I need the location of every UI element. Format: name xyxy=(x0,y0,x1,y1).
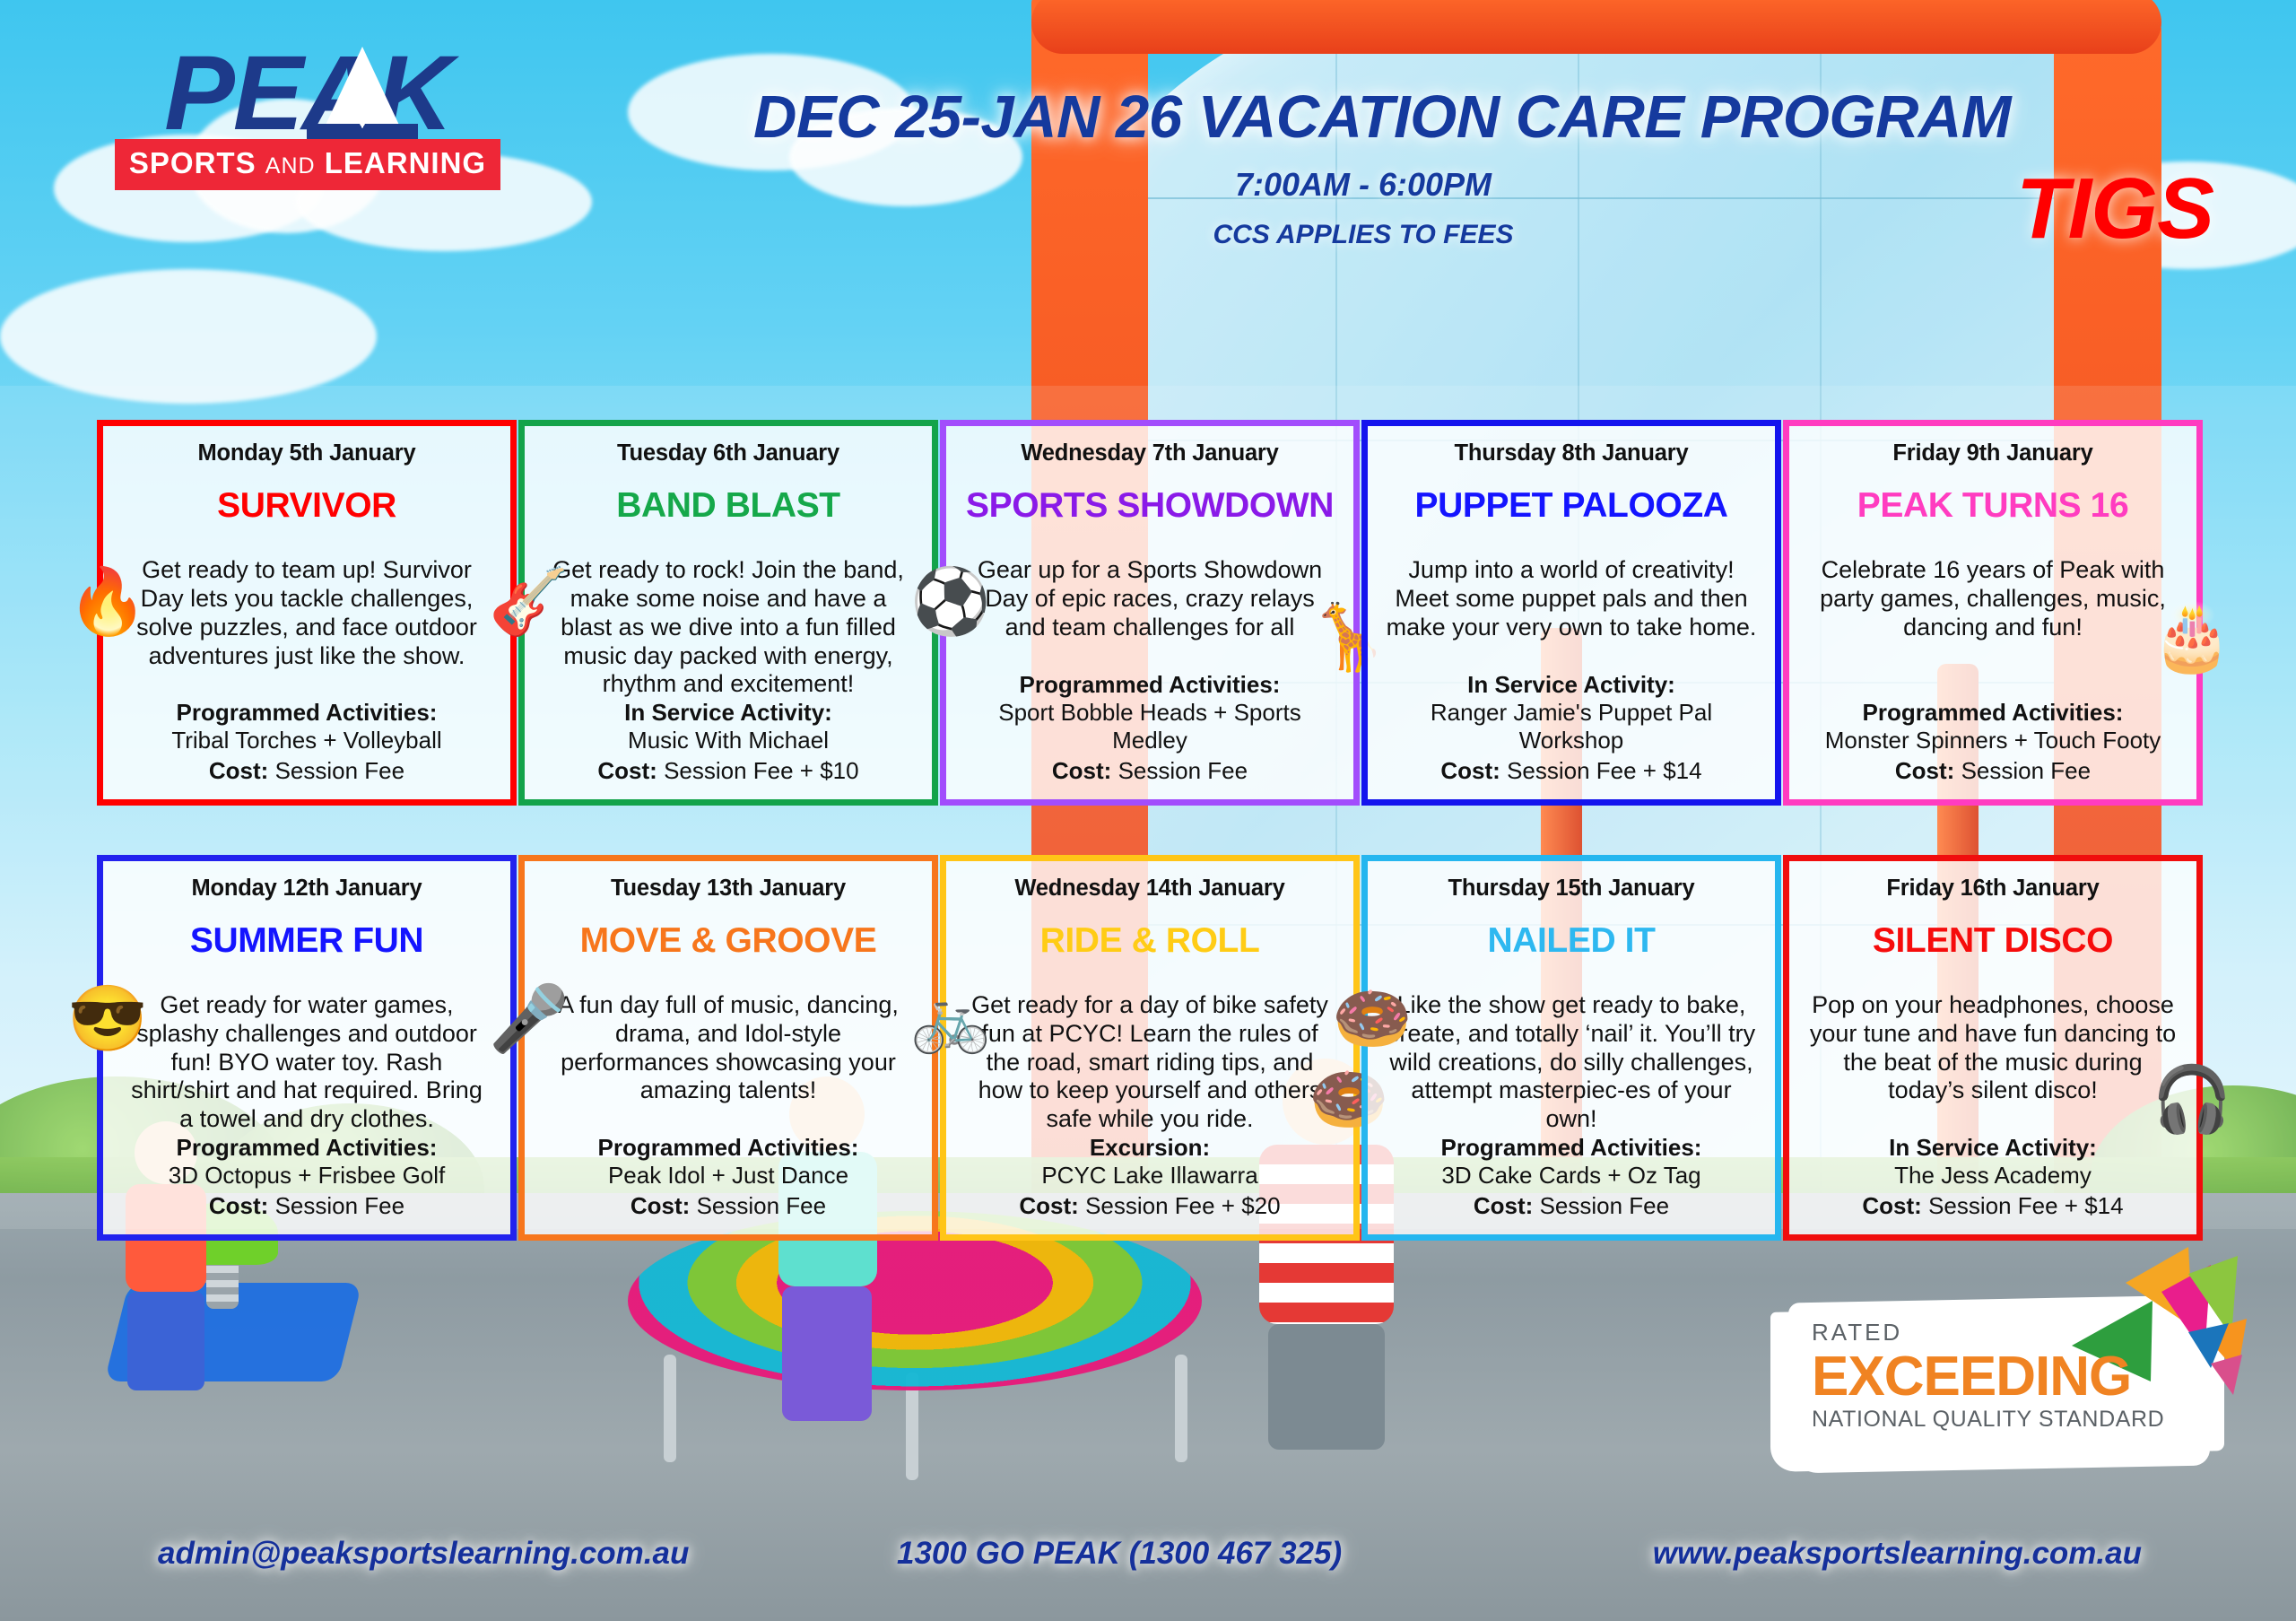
card-date: Wednesday 14th January xyxy=(959,876,1341,902)
card-cost-label: Cost: xyxy=(631,1192,690,1219)
card-cost: Cost: Session Fee xyxy=(1380,1192,1762,1220)
badge-rated-label: RATED xyxy=(1812,1319,2164,1346)
card-activity-value: Peak Idol + Just Dance xyxy=(537,1162,919,1190)
card-activity-label: In Service Activity: xyxy=(1802,1134,2184,1162)
program-card-grid: 🔥 Monday 5th January SURVIVOR Get ready … xyxy=(97,420,2210,1241)
card-cost-value: Session Fee xyxy=(697,1192,827,1219)
card-activity-value: Monster Spinners + Touch Footy xyxy=(1802,727,2184,754)
logo-tagline-sports: SPORTS xyxy=(129,146,257,179)
card-cost-label: Cost: xyxy=(209,1192,268,1219)
card-cost-value: Session Fee + $14 xyxy=(1928,1192,2124,1219)
card-description: Jump into a world of creativity! Meet so… xyxy=(1380,556,1762,642)
badge-text-block: RATED EXCEEDING NATIONAL QUALITY STANDAR… xyxy=(1812,1319,2164,1433)
card-date: Tuesday 6th January xyxy=(537,440,919,466)
peak-logo: PEAK SPORTS AND LEARNING xyxy=(115,43,500,190)
card-activity-value: Sport Bobble Heads + Sports Medley xyxy=(959,699,1341,754)
card-activity-label: Programmed Activities: xyxy=(1380,1134,1762,1162)
card-description: Gear up for a Sports Showdown Day of epi… xyxy=(959,556,1341,642)
card-cost-label: Cost: xyxy=(209,757,268,784)
card-activity-value: Ranger Jamie's Puppet Pal Workshop xyxy=(1380,699,1762,754)
card-cost-label: Cost: xyxy=(597,757,657,784)
program-day-card: 🎧 Friday 16th January SILENT DISCO Pop o… xyxy=(1783,855,2203,1241)
card-date: Friday 16th January xyxy=(1802,876,2184,902)
program-day-card: 🍩 Thursday 15th January NAILED IT Like t… xyxy=(1361,855,1781,1241)
program-day-card: Thursday 8th January PUPPET PALOOZA Jump… xyxy=(1361,420,1781,806)
card-activity-label: Excursion: xyxy=(959,1134,1341,1162)
program-header: DEC 25-JAN 26 VACATION CARE PROGRAM 7:00… xyxy=(753,83,1973,250)
card-activity-label: Programmed Activities: xyxy=(1802,699,2184,727)
trampoline-leg xyxy=(664,1355,676,1462)
card-description: Get ready to rock! Join the band, make s… xyxy=(537,556,919,699)
card-description: Get ready to team up! Survivor Day lets … xyxy=(116,556,498,670)
card-footer: Programmed Activities: 3D Octopus + Fris… xyxy=(116,1134,498,1220)
card-description: Like the show get ready to bake, create,… xyxy=(1380,991,1762,1134)
footer-phone[interactable]: 1300 GO PEAK (1300 467 325) xyxy=(897,1536,1342,1572)
card-cost-label: Cost: xyxy=(1019,1192,1078,1219)
card-cost-label: Cost: xyxy=(1862,1192,1921,1219)
card-footer: In Service Activity: Music With Michael … xyxy=(537,699,919,785)
cloud-icon xyxy=(0,269,377,404)
program-day-card: ⚽🦒 Wednesday 7th January SPORTS SHOWDOWN… xyxy=(940,420,1360,806)
site-code-badge: TIGS xyxy=(2016,160,2213,258)
card-cost: Cost: Session Fee xyxy=(1802,757,2184,785)
card-date: Thursday 8th January xyxy=(1380,440,1762,466)
card-date: Tuesday 13th January xyxy=(537,876,919,902)
card-description: Get ready for a day of bike safety fun a… xyxy=(959,991,1341,1134)
card-date: Monday 12th January xyxy=(116,876,498,902)
card-theme-title: SURVIVOR xyxy=(116,486,498,526)
card-cost-value: Session Fee xyxy=(1118,757,1248,784)
card-footer: Programmed Activities: Sport Bobble Head… xyxy=(959,671,1341,785)
card-date: Monday 5th January xyxy=(116,440,498,466)
card-theme-title: SPORTS SHOWDOWN xyxy=(959,486,1341,526)
card-description: Celebrate 16 years of Peak with party ga… xyxy=(1802,556,2184,642)
card-footer: In Service Activity: Ranger Jamie's Pupp… xyxy=(1380,671,1762,785)
card-cost-value: Session Fee + $14 xyxy=(1507,757,1702,784)
card-cost-label: Cost: xyxy=(1052,757,1111,784)
card-cost-value: Session Fee xyxy=(275,1192,405,1219)
logo-tagline-bar: SPORTS AND LEARNING xyxy=(115,139,500,190)
program-day-card: 🔥 Monday 5th January SURVIVOR Get ready … xyxy=(97,420,517,806)
card-activity-value: PCYC Lake Illawarra xyxy=(959,1162,1341,1190)
program-day-card: 🎤 Tuesday 13th January MOVE & GROOVE A f… xyxy=(518,855,938,1241)
ccs-note: CCS APPLIES TO FEES xyxy=(753,220,1973,250)
program-day-card: 🚲🍩 Wednesday 14th January RIDE & ROLL Ge… xyxy=(940,855,1360,1241)
card-footer: Programmed Activities: Monster Spinners … xyxy=(1802,699,2184,785)
card-description: Pop on your headphones, choose your tune… xyxy=(1802,991,2184,1105)
program-day-card: 😎 Monday 12th January SUMMER FUN Get rea… xyxy=(97,855,517,1241)
program-day-card: 🎂 Friday 9th January PEAK TURNS 16 Celeb… xyxy=(1783,420,2203,806)
card-activity-value: Tribal Torches + Volleyball xyxy=(116,727,498,754)
card-cost: Cost: Session Fee xyxy=(116,1192,498,1220)
rated-exceeding-badge: RATED EXCEEDING NATIONAL QUALITY STANDAR… xyxy=(1788,1299,2210,1469)
card-description: Get ready for water games, splashy chall… xyxy=(116,991,498,1134)
card-cost: Cost: Session Fee + $20 xyxy=(959,1192,1341,1220)
card-theme-title: BAND BLAST xyxy=(537,486,919,526)
card-footer: Programmed Activities: 3D Cake Cards + O… xyxy=(1380,1134,1762,1220)
card-cost-value: Session Fee + $10 xyxy=(664,757,859,784)
card-activity-label: Programmed Activities: xyxy=(537,1134,919,1162)
card-activity-label: Programmed Activities: xyxy=(116,1134,498,1162)
card-cost-value: Session Fee xyxy=(275,757,405,784)
card-cost: Cost: Session Fee xyxy=(116,757,498,785)
trampoline-leg xyxy=(1175,1355,1187,1462)
card-cost-label: Cost: xyxy=(1474,1192,1533,1219)
card-theme-title: RIDE & ROLL xyxy=(959,921,1341,961)
card-theme-title: SILENT DISCO xyxy=(1802,921,2184,961)
card-cost: Cost: Session Fee + $14 xyxy=(1380,757,1762,785)
card-theme-title: PUPPET PALOOZA xyxy=(1380,486,1762,526)
card-activity-value: 3D Octopus + Frisbee Golf xyxy=(116,1162,498,1190)
card-footer: Programmed Activities: Peak Idol + Just … xyxy=(537,1134,919,1220)
card-activity-label: In Service Activity: xyxy=(1380,671,1762,699)
card-cost-value: Session Fee xyxy=(1540,1192,1670,1219)
badge-standard-label: NATIONAL QUALITY STANDARD xyxy=(1812,1407,2164,1433)
card-footer: Excursion: PCYC Lake Illawarra Cost: Ses… xyxy=(959,1134,1341,1220)
red-frame-top xyxy=(1031,0,2161,54)
badge-exceeding-label: EXCEEDING xyxy=(1812,1348,2164,1405)
card-date: Wednesday 7th January xyxy=(959,440,1341,466)
card-date: Friday 9th January xyxy=(1802,440,2184,466)
card-theme-title: SUMMER FUN xyxy=(116,921,498,961)
card-activity-label: Programmed Activities: xyxy=(959,671,1341,699)
card-cost-label: Cost: xyxy=(1440,757,1500,784)
card-cost-value: Session Fee + $20 xyxy=(1085,1192,1281,1219)
card-activity-value: The Jess Academy xyxy=(1802,1162,2184,1190)
contact-footer: admin@peaksportslearning.com.au 1300 GO … xyxy=(0,1536,2296,1599)
card-cost-value: Session Fee xyxy=(1961,757,2092,784)
page-title: DEC 25-JAN 26 VACATION CARE PROGRAM xyxy=(753,83,1973,152)
card-cost: Cost: Session Fee + $10 xyxy=(537,757,919,785)
card-activity-value: Music With Michael xyxy=(537,727,919,754)
card-theme-title: NAILED IT xyxy=(1380,921,1762,961)
card-date: Thursday 15th January xyxy=(1380,876,1762,902)
footer-email[interactable]: admin@peaksportslearning.com.au xyxy=(158,1536,689,1572)
program-hours: 7:00AM - 6:00PM xyxy=(753,166,1973,204)
card-description: A fun day full of music, dancing, drama,… xyxy=(537,991,919,1105)
card-theme-title: PEAK TURNS 16 xyxy=(1802,486,2184,526)
logo-tagline-learning: LEARNING xyxy=(325,146,486,179)
card-cost-label: Cost: xyxy=(1895,757,1954,784)
card-footer: In Service Activity: The Jess Academy Co… xyxy=(1802,1134,2184,1220)
card-footer: Programmed Activities: Tribal Torches + … xyxy=(116,699,498,785)
program-day-card: 🎸 Tuesday 6th January BAND BLAST Get rea… xyxy=(518,420,938,806)
card-cost: Cost: Session Fee + $14 xyxy=(1802,1192,2184,1220)
card-activity-label: Programmed Activities: xyxy=(116,699,498,727)
card-activity-label: In Service Activity: xyxy=(537,699,919,727)
card-cost: Cost: Session Fee xyxy=(959,757,1341,785)
card-cost: Cost: Session Fee xyxy=(537,1192,919,1220)
card-activity-value: 3D Cake Cards + Oz Tag xyxy=(1380,1162,1762,1190)
card-theme-title: MOVE & GROOVE xyxy=(537,921,919,961)
logo-tagline-and: AND xyxy=(265,153,316,179)
footer-website[interactable]: www.peaksportslearning.com.au xyxy=(1653,1536,2142,1572)
